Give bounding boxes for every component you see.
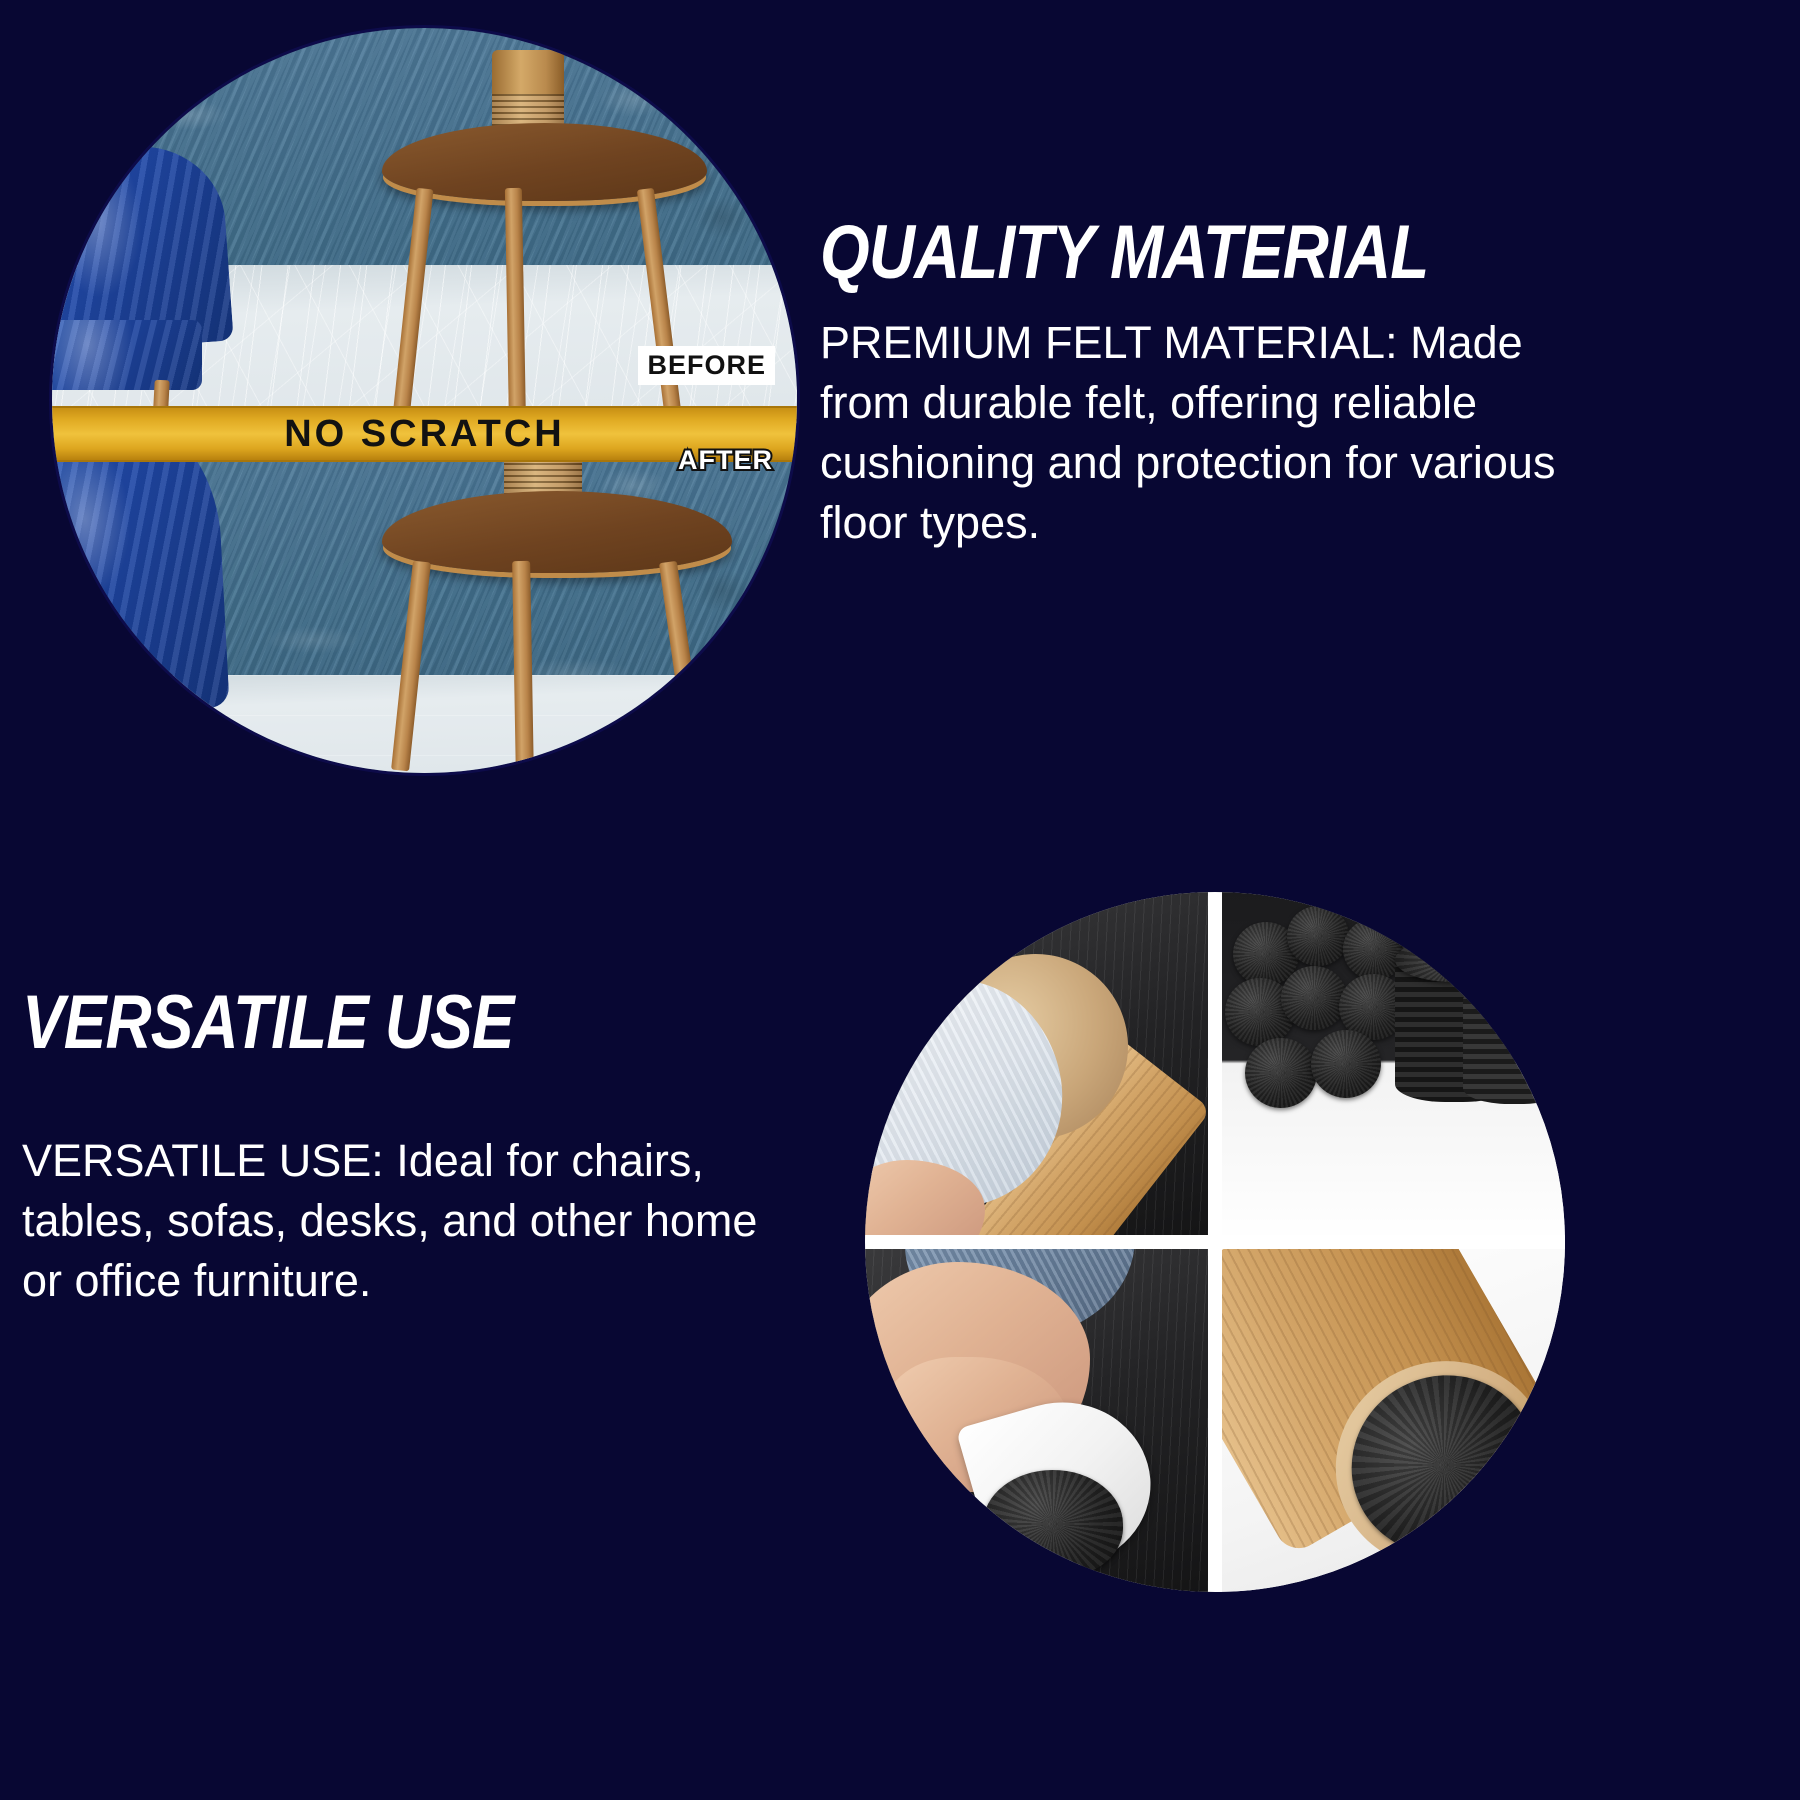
collage-quadrant-pad-on-leg [1215, 1242, 1565, 1592]
before-after-image: BEFORE NO SCRATCH AFTER [52, 28, 797, 773]
before-scene: BEFORE [52, 28, 797, 423]
felt-pad [1311, 1030, 1381, 1098]
felt-pad-stack-top [1395, 938, 1513, 982]
chair-seat [52, 320, 202, 390]
collage-quadrant-peeling-backing [865, 1242, 1215, 1592]
versatile-use-feature: VERSATILE USE VERSATILE USE: Ideal for c… [22, 985, 792, 1311]
after-scene: AFTER [52, 423, 797, 773]
table-leg-center-after [512, 561, 534, 773]
versatile-use-title: VERSATILE USE [22, 985, 669, 1061]
felt-pad [1245, 1038, 1317, 1108]
no-scratch-label: NO SCRATCH [284, 413, 565, 456]
felt-pad-underside [983, 1470, 1123, 1578]
quality-material-feature: QUALITY MATERIAL PREMIUM FELT MATERIAL: … [820, 215, 1780, 552]
collage-quadrant-wiping [865, 892, 1215, 1242]
felt-pad-stack [1463, 984, 1565, 1104]
product-collage-image [865, 892, 1565, 1592]
felt-pad [1287, 906, 1349, 966]
quality-material-body: PREMIUM FELT MATERIAL: Made from durable… [820, 313, 1565, 552]
before-badge: BEFORE [638, 346, 775, 385]
after-badge: AFTER [678, 445, 773, 476]
versatile-use-body: VERSATILE USE: Ideal for chairs, tables,… [22, 1131, 767, 1311]
collage-quadrant-felt-pad-stacks [1215, 892, 1565, 1242]
collage-divider-horizontal [865, 1235, 1565, 1249]
quality-material-title: QUALITY MATERIAL [820, 215, 1626, 291]
felt-pad [1281, 966, 1347, 1030]
